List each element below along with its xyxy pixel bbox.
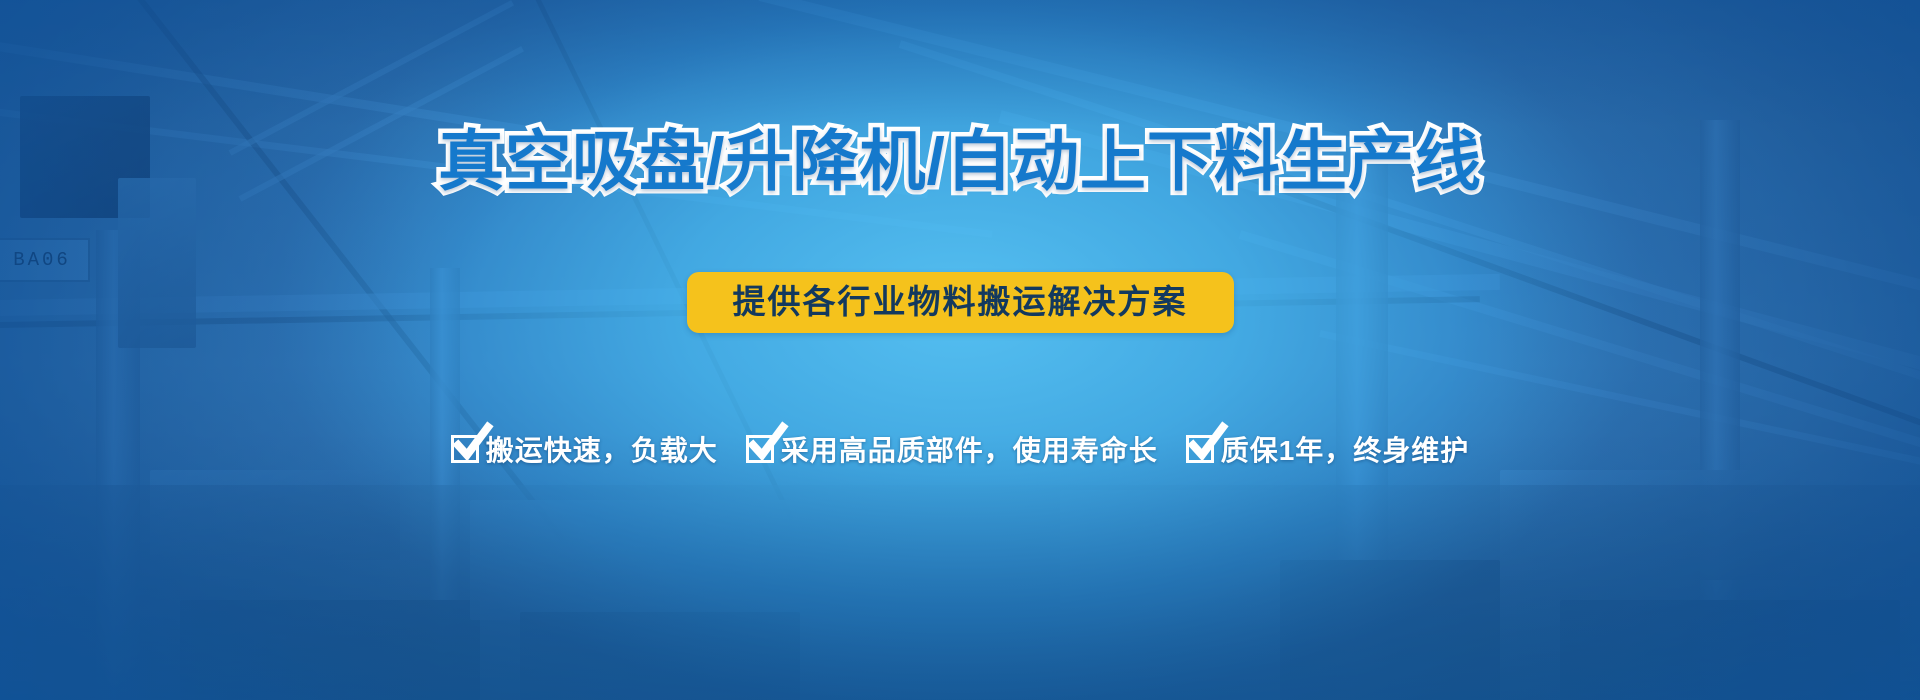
feature-item: 采用高品质部件，使用寿命长 bbox=[746, 429, 1158, 469]
banner-subtitle-badge: 提供各行业物料搬运解决方案 bbox=[687, 272, 1234, 333]
feature-list: 搬运快速，负载大 采用高品质部件，使用寿命长 质保1年，终身维护 bbox=[451, 429, 1470, 469]
banner-headline: 真空吸盘/升降机/自动上下料生产线 bbox=[438, 128, 1482, 194]
feature-label: 搬运快速，负载大 bbox=[486, 429, 718, 469]
checkbox-check-icon bbox=[1186, 435, 1214, 463]
checkbox-check-icon bbox=[451, 435, 479, 463]
promo-banner: BA06 真空吸盘/升降机/自动上下料生产线 提供各行业物料搬运解决方案 搬运快… bbox=[0, 0, 1920, 700]
feature-item: 搬运快速，负载大 bbox=[451, 429, 718, 469]
feature-label: 采用高品质部件，使用寿命长 bbox=[781, 429, 1158, 469]
feature-item: 质保1年，终身维护 bbox=[1186, 429, 1470, 469]
feature-label: 质保1年，终身维护 bbox=[1221, 429, 1470, 469]
checkbox-check-icon bbox=[746, 435, 774, 463]
banner-content: 真空吸盘/升降机/自动上下料生产线 提供各行业物料搬运解决方案 搬运快速，负载大… bbox=[0, 0, 1920, 700]
